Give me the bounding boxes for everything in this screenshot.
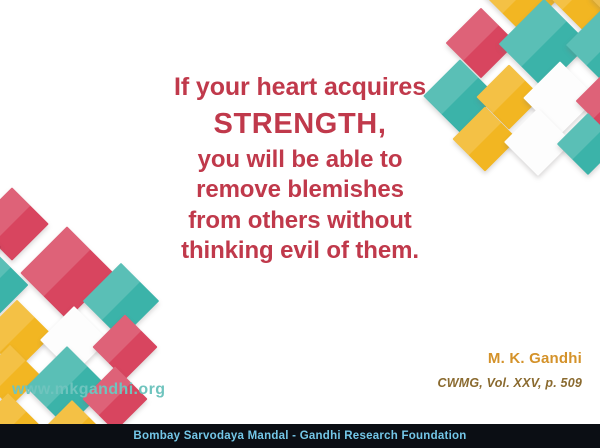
quote-line-6: thinking evil of them. (118, 236, 482, 266)
diamond-tile (0, 187, 49, 261)
quote-text: If your heart acquires STRENGTH, you wil… (118, 72, 482, 266)
quote-card: If your heart acquires STRENGTH, you wil… (0, 0, 600, 448)
diamond-tile (476, 64, 541, 129)
diamond-tile (542, 0, 600, 30)
quote-line-3: you will be able to (118, 145, 482, 175)
diamond-tile (590, 0, 600, 32)
quote-line-4: remove blemishes (118, 175, 482, 205)
diamond-tile (0, 214, 2, 279)
diamond-tile (504, 108, 572, 176)
quote-line-5: from others without (118, 206, 482, 236)
diamond-tile (82, 366, 147, 431)
diamond-tile (566, 4, 600, 86)
website-url[interactable]: www.mkgandhi.org (12, 381, 165, 399)
diamond-tile (83, 263, 159, 339)
diamond-tile (0, 250, 28, 321)
quote-source-citation: CWMG, Vol. XXV, p. 509 (438, 376, 582, 390)
diamond-tile (576, 66, 600, 137)
diamond-tile (20, 226, 113, 319)
diamond-tile (40, 306, 108, 374)
diamond-tile (557, 113, 600, 175)
footer-bar: Bombay Sarvodaya Mandal - Gandhi Researc… (0, 424, 600, 448)
quote-author: M. K. Gandhi (488, 350, 582, 367)
diamond-tile (92, 314, 157, 379)
footer-organization-label: Bombay Sarvodaya Mandal - Gandhi Researc… (133, 430, 466, 442)
diamond-tile (0, 300, 52, 371)
diamond-tile (446, 8, 517, 79)
diamond-tile (523, 61, 597, 135)
quote-line-2: STRENGTH, (118, 106, 482, 143)
quote-line-1: If your heart acquires (118, 72, 482, 104)
diamond-tile (499, 0, 590, 89)
diamond-tile (482, 0, 564, 34)
